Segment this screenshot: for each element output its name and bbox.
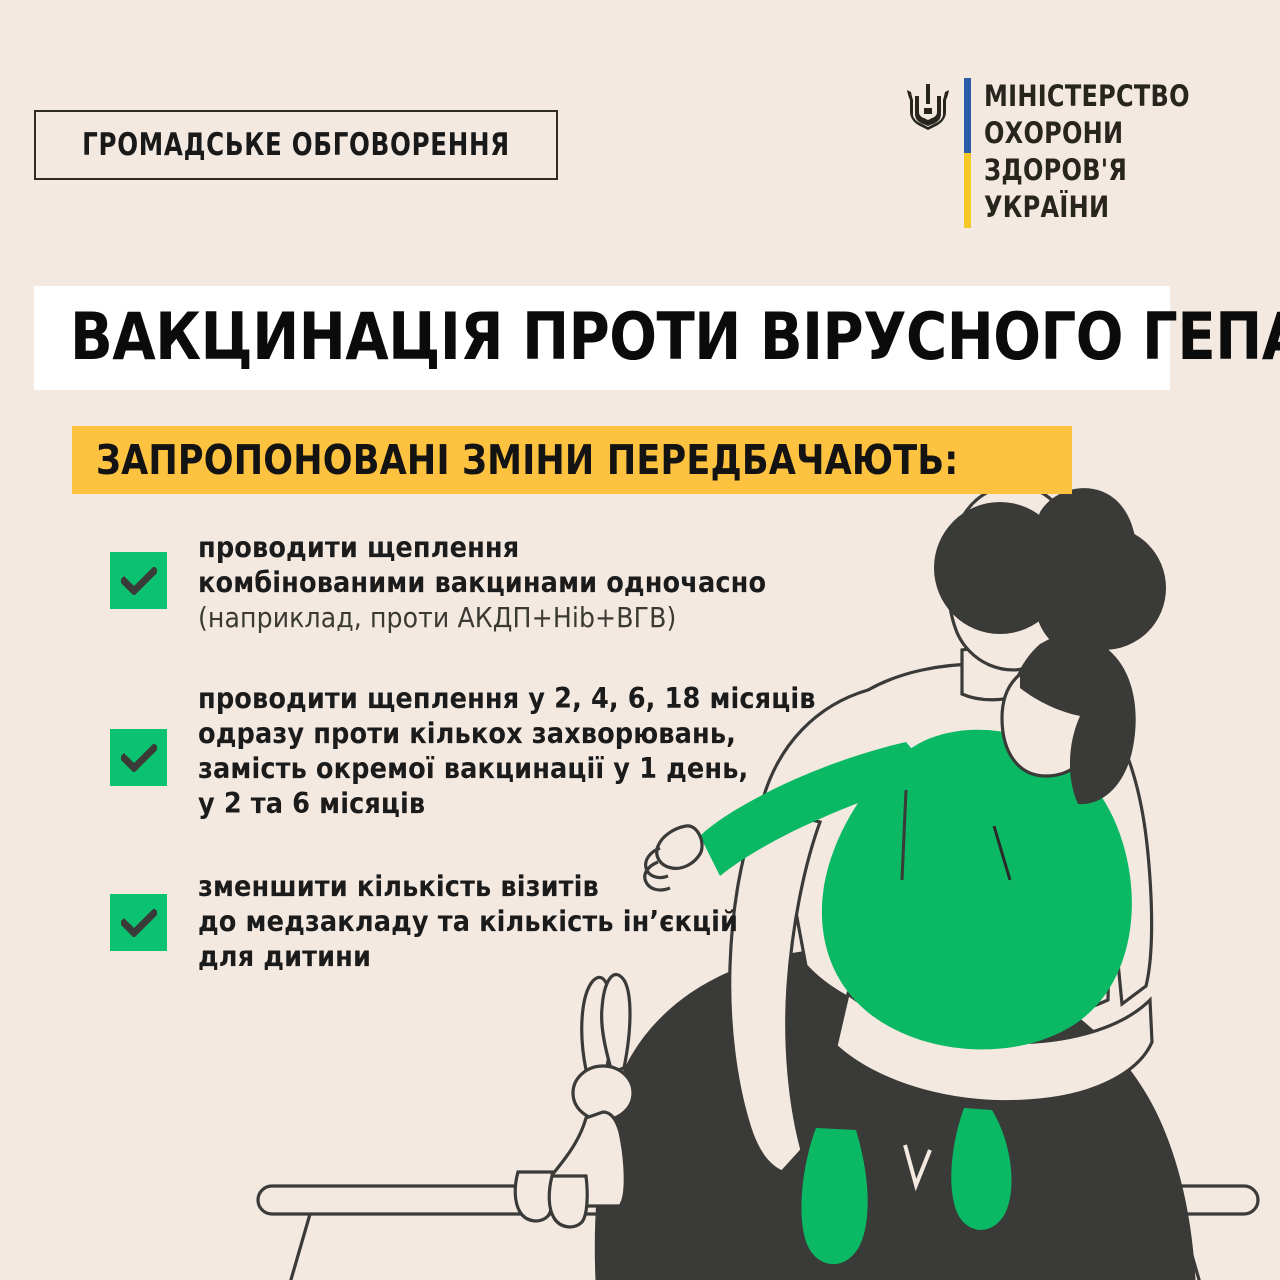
ministry-line-3: ЗДОРОВ'Я bbox=[984, 152, 1190, 189]
bullet-3-line-2: до медзакладу та кількість ін’єкцій bbox=[198, 904, 738, 939]
ministry-line-1: МІНІСТЕРСТВО bbox=[984, 78, 1190, 115]
ministry-line-4: УКРАЇНИ bbox=[984, 189, 1190, 226]
bullet-2-line-3: замість окремої вакцинації у 1 день, bbox=[198, 751, 816, 786]
public-discussion-badge: ГРОМАДСЬКЕ ОБГОВОРЕННЯ bbox=[34, 110, 558, 180]
parent-arm-wrapping bbox=[836, 994, 1152, 1102]
subtitle-band: ЗАПРОПОНОВАНІ ЗМІНИ ПЕРЕДБАЧАЮТЬ: bbox=[72, 426, 1072, 494]
list-item: зменшити кількість візитів до медзакладу… bbox=[110, 869, 870, 974]
bullet-3-line-3: для дитини bbox=[198, 939, 738, 974]
parent-hand-on-bench bbox=[515, 1172, 587, 1227]
list-item-text: проводити щеплення у 2, 4, 6, 18 місяців… bbox=[198, 681, 816, 821]
check-icon bbox=[110, 552, 167, 609]
page-title: ВАКЦИНАЦІЯ ПРОТИ ВІРУСНОГО ГЕПАТИТУ В bbox=[70, 305, 1280, 371]
list-item-text: зменшити кількість візитів до медзакладу… bbox=[198, 869, 738, 974]
list-item-text: проводити щеплення комбінованими вакцина… bbox=[198, 530, 766, 635]
badge-label: ГРОМАДСЬКЕ ОБГОВОРЕННЯ bbox=[82, 127, 510, 163]
proposed-changes-list: проводити щеплення комбінованими вакцина… bbox=[110, 530, 870, 974]
bullet-2-line-1: проводити щеплення у 2, 4, 6, 18 місяців bbox=[198, 681, 816, 716]
ukraine-tryzub-icon bbox=[905, 82, 951, 140]
infographic-poster: ГРОМАДСЬКЕ ОБГОВОРЕННЯ МІНІСТЕРСТВО ОХОР… bbox=[0, 0, 1280, 1280]
checkmark-icon bbox=[121, 567, 157, 595]
bullet-2-line-2: одразу проти кількох захворювань, bbox=[198, 716, 816, 751]
child-legs bbox=[801, 1108, 1011, 1264]
title-band: ВАКЦИНАЦІЯ ПРОТИ ВІРУСНОГО ГЕПАТИТУ В bbox=[34, 286, 1170, 390]
list-item: проводити щеплення у 2, 4, 6, 18 місяців… bbox=[110, 681, 870, 821]
list-item: проводити щеплення комбінованими вакцина… bbox=[110, 530, 870, 635]
ministry-logo: МІНІСТЕРСТВО ОХОРОНИ ЗДОРОВ'Я УКРАЇНИ bbox=[905, 78, 1208, 228]
bullet-3-line-1: зменшити кількість візитів bbox=[198, 869, 738, 904]
bunny-toy bbox=[542, 975, 633, 1206]
ukraine-flag-bar bbox=[964, 78, 971, 228]
ministry-name: МІНІСТЕРСТВО ОХОРОНИ ЗДОРОВ'Я УКРАЇНИ bbox=[984, 78, 1208, 226]
checkmark-icon bbox=[121, 909, 157, 937]
bullet-1-line-1: проводити щеплення bbox=[198, 530, 766, 565]
checkmark-icon bbox=[121, 744, 157, 772]
bullet-1-note: (наприклад, проти АКДП+Hib+ВГВ) bbox=[198, 600, 766, 635]
bench bbox=[258, 1186, 1258, 1280]
bullet-1-line-2: комбінованими вакцинами одночасно bbox=[198, 565, 766, 600]
check-icon bbox=[110, 894, 167, 951]
subtitle: ЗАПРОПОНОВАНІ ЗМІНИ ПЕРЕДБАЧАЮТЬ: bbox=[96, 436, 958, 484]
check-icon bbox=[110, 729, 167, 786]
shirt-fold-line bbox=[902, 790, 906, 880]
child-head bbox=[1002, 637, 1136, 804]
bullet-2-line-4: у 2 та 6 місяців bbox=[198, 786, 816, 821]
parent-lower-body bbox=[595, 948, 1196, 1280]
ministry-line-2: ОХОРОНИ bbox=[984, 115, 1190, 152]
